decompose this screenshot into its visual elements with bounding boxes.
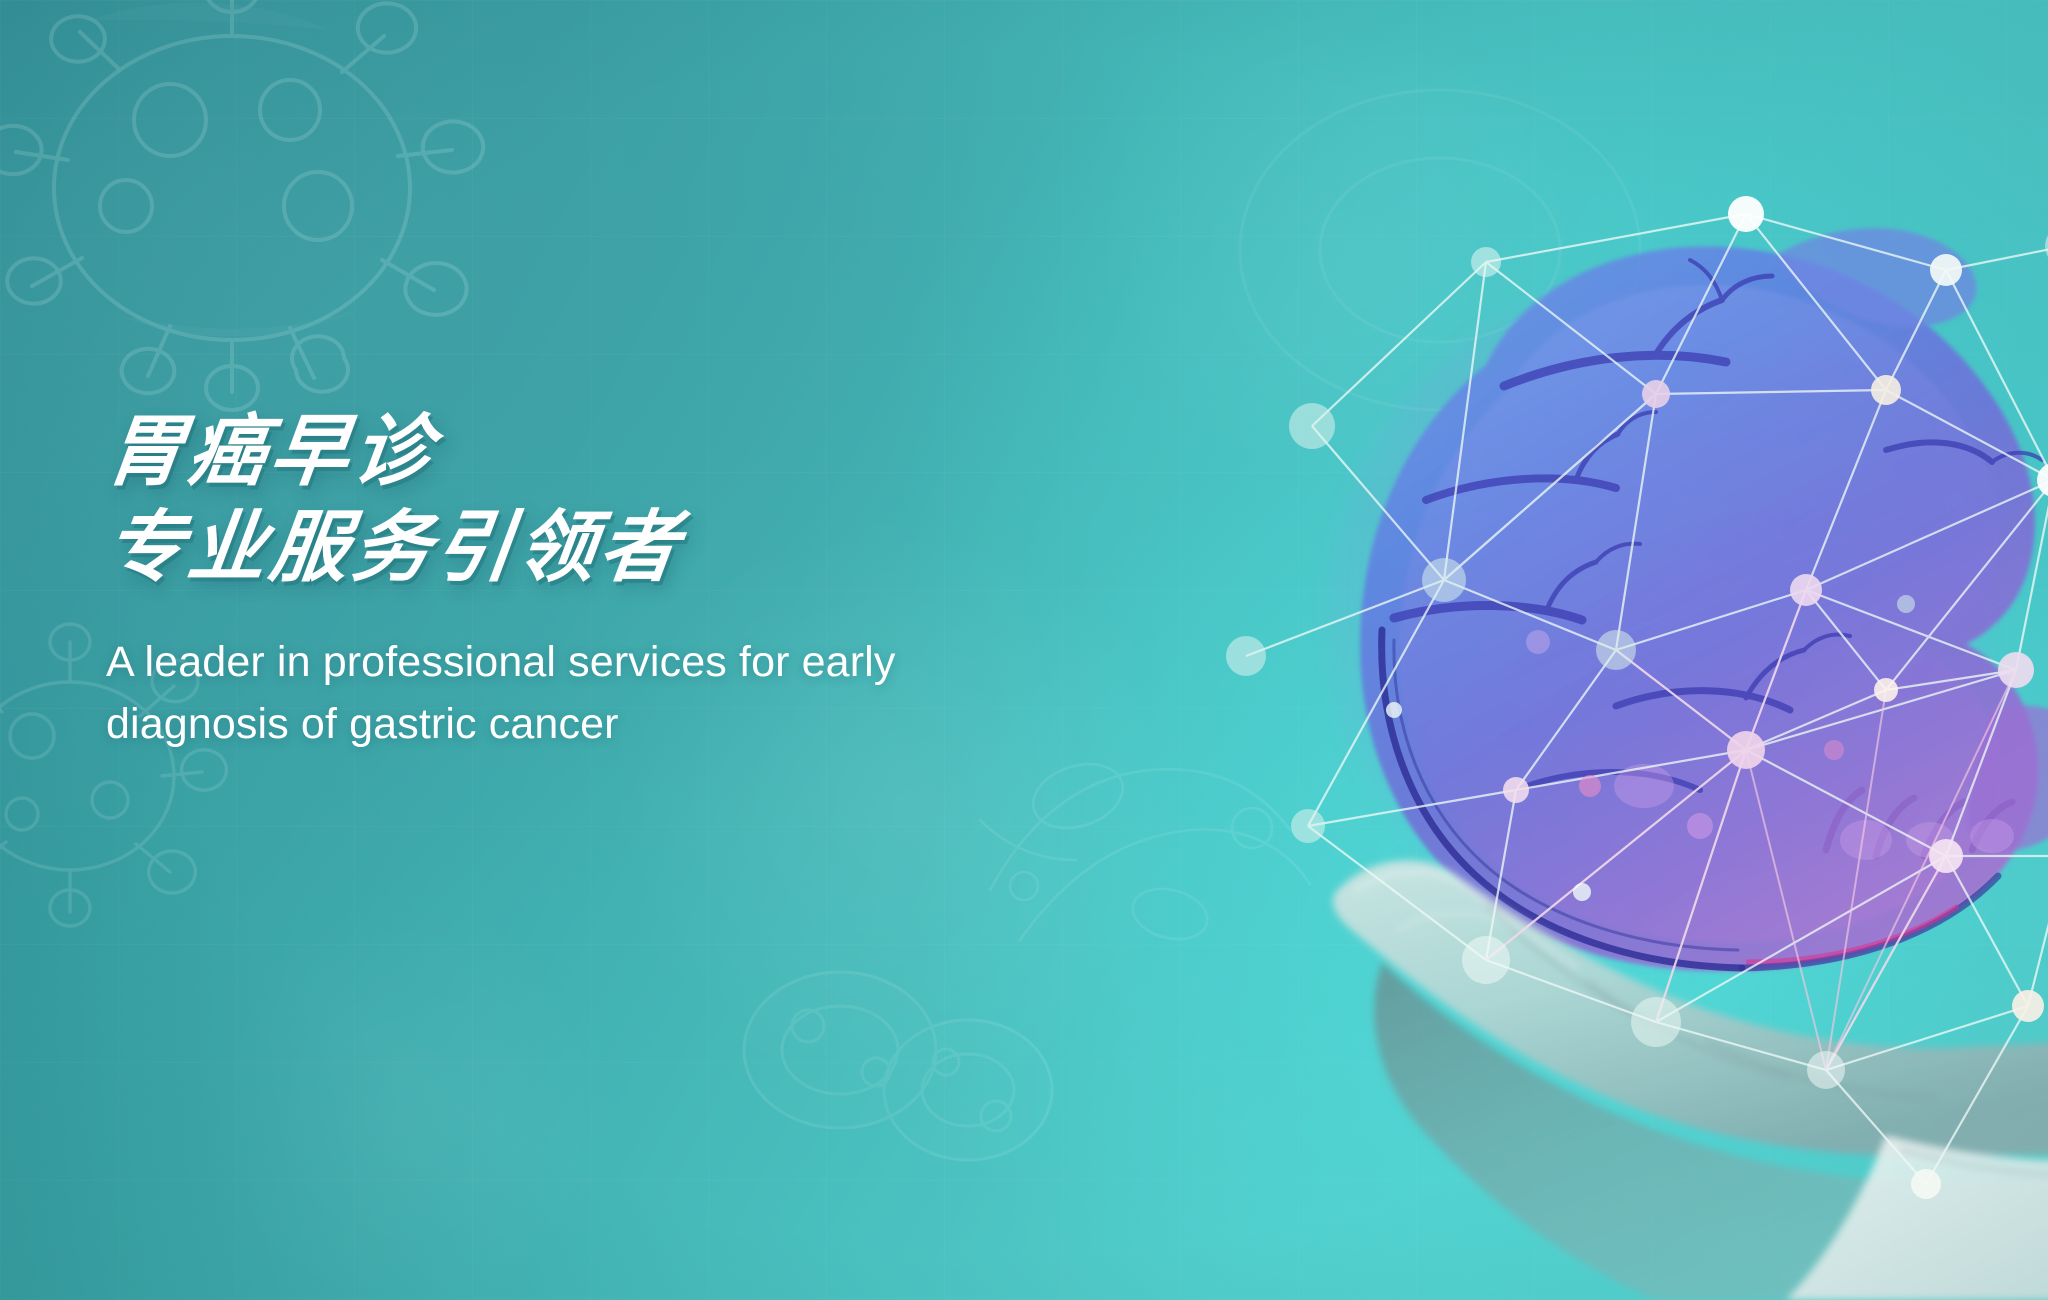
hand-holding-stomach-illustration [1186, 150, 2048, 1300]
banner-root: 胃癌早诊 专业服务引领者 A leader in professional se… [0, 0, 2048, 1300]
subtitle-line-1: A leader in professional services for ea… [106, 632, 1116, 693]
headline-line-1: 胃癌早诊 [101, 410, 1171, 494]
subtitle-block: A leader in professional services for ea… [106, 632, 1116, 754]
headline-text-block: 胃癌早诊 专业服务引领者 A leader in professional se… [106, 410, 1166, 755]
headline-line-2: 专业服务引领者 [101, 506, 1171, 590]
subtitle-line-2: diagnosis of gastric cancer [106, 694, 1116, 755]
